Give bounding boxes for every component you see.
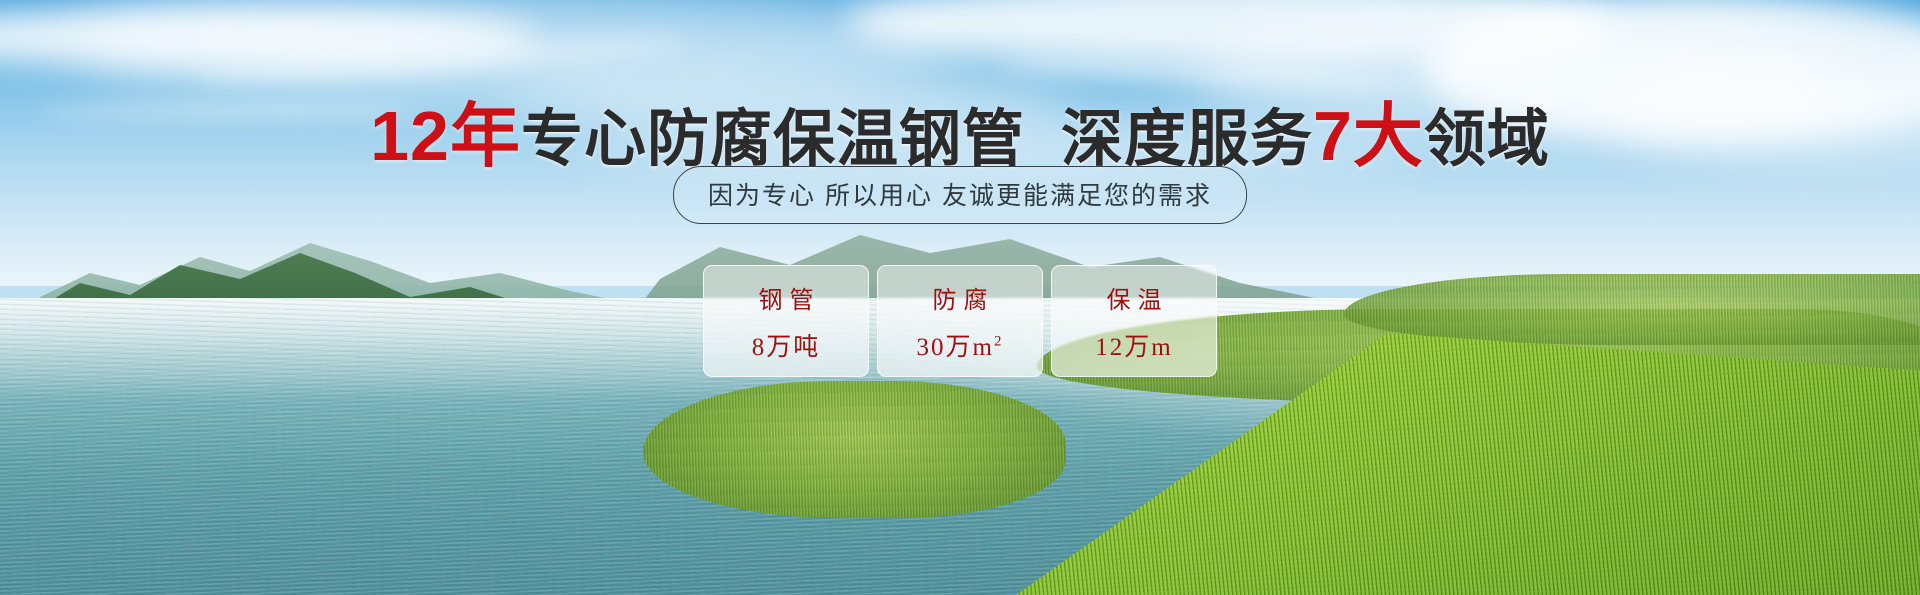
headline-fields-unit: 大 xyxy=(1353,97,1424,175)
hero-banner: 12年专心防腐保温钢管深度服务7大领域 因为专心 所以用心 友诚更能满足您的需求… xyxy=(0,0,1920,595)
headline-years-number: 12 xyxy=(370,97,450,175)
stat-card-label: 保温 xyxy=(1100,280,1169,315)
stat-card-label: 防腐 xyxy=(926,280,995,315)
stat-card-value: 8万吨 xyxy=(752,327,821,363)
stat-card-anticorrosion[interactable]: 防腐 30万m2 xyxy=(877,265,1043,377)
headline-service-text: 深度服务 xyxy=(1061,105,1313,174)
stat-card-value-superscript: 2 xyxy=(994,333,1004,349)
subtitle-pill: 因为专心 所以用心 友诚更能满足您的需求 xyxy=(673,166,1247,224)
stat-card-group: 钢管 8万吨 防腐 30万m2 保温 12万m xyxy=(703,265,1217,377)
headline-fields-number: 7 xyxy=(1313,97,1353,175)
stat-card-value: 30万m2 xyxy=(917,327,1004,363)
stat-card-steel-pipe[interactable]: 钢管 8万吨 xyxy=(703,265,869,377)
stat-card-label: 钢管 xyxy=(752,280,821,315)
headline-fields-tail: 领域 xyxy=(1424,105,1550,174)
stat-card-value: 12万m xyxy=(1095,327,1172,363)
stat-card-insulation[interactable]: 保温 12万m xyxy=(1051,265,1217,377)
headline-main-text: 专心防腐保温钢管 xyxy=(521,105,1025,174)
headline-years-unit: 年 xyxy=(450,97,521,175)
